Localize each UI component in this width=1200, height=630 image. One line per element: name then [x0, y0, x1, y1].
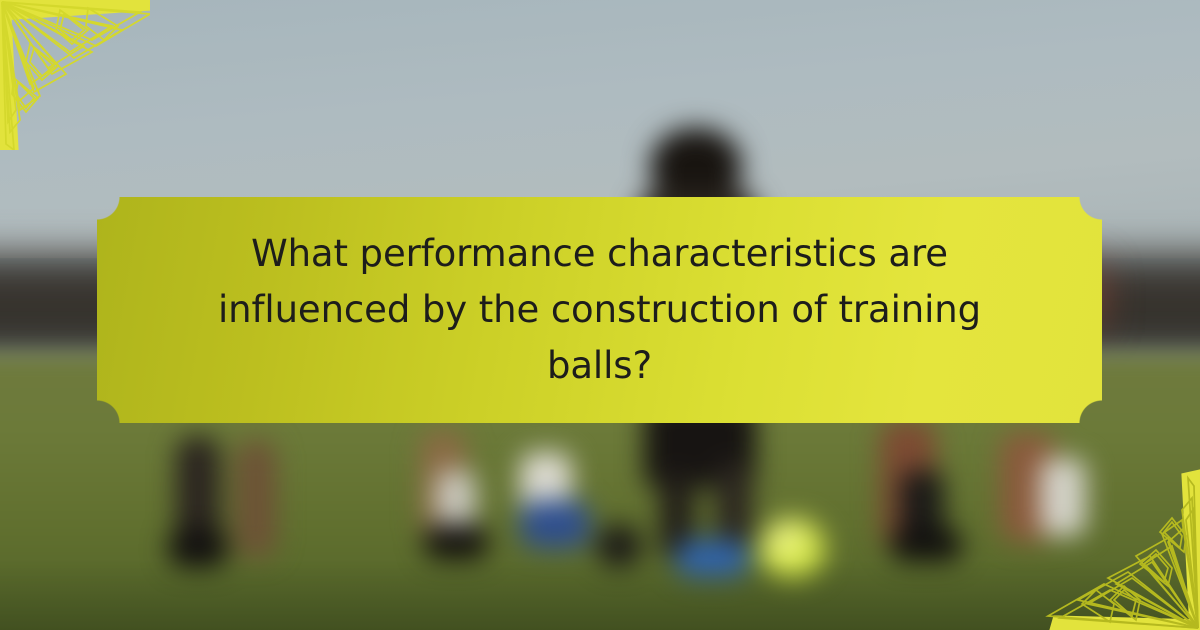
page-title: What performance characteristics are inf…	[129, 226, 1071, 395]
background-foreground-shadow	[0, 560, 1200, 630]
background-boot-blue	[520, 500, 590, 548]
background-boot-c	[424, 524, 488, 560]
share-card-canvas: What performance characteristics are inf…	[0, 0, 1200, 630]
headline-banner: What performance characteristics are inf…	[97, 197, 1102, 423]
background-leg-b	[236, 440, 276, 558]
background-boot-e	[890, 528, 962, 562]
background-sock-f	[1040, 458, 1086, 536]
player-leg-right	[716, 462, 752, 548]
